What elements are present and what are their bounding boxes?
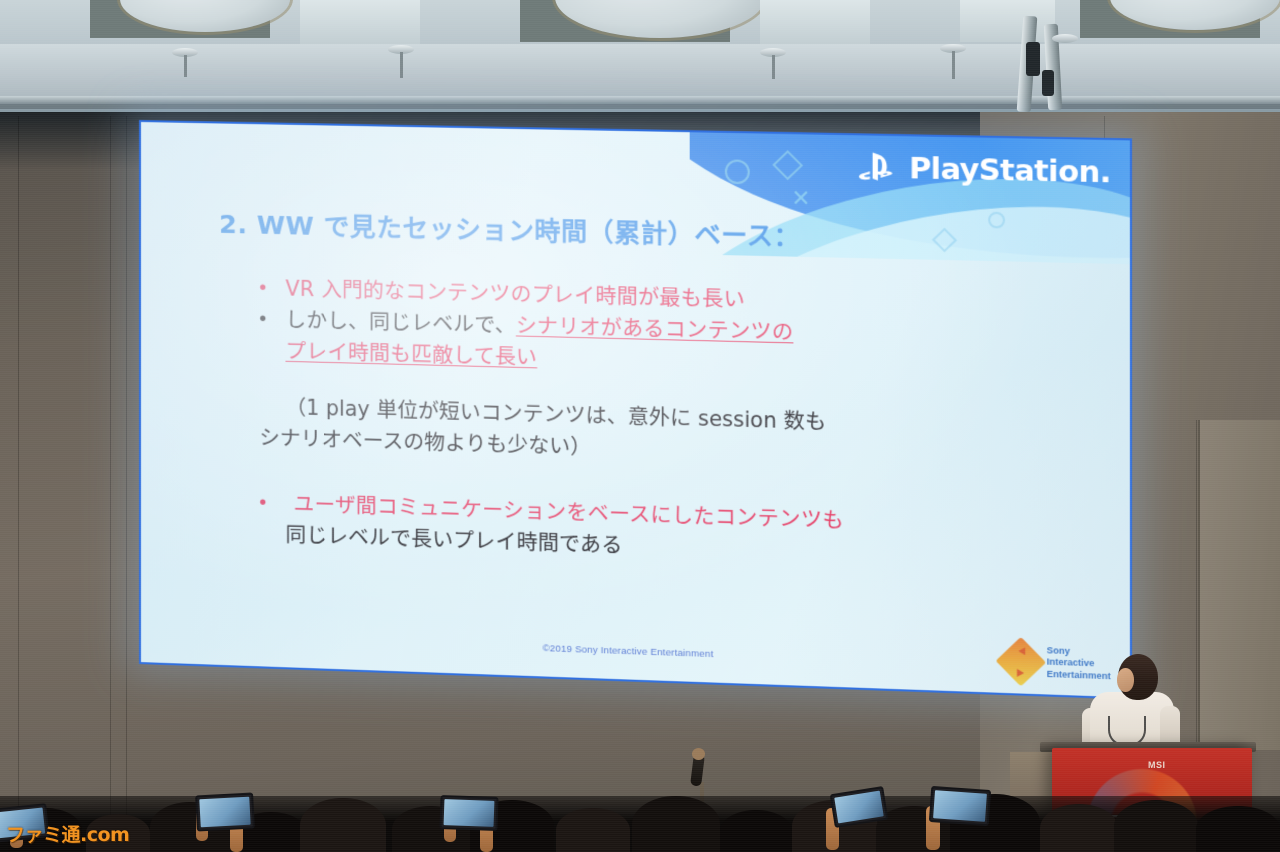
- bullet-spacer: [259, 519, 285, 520]
- audience-head: [632, 796, 720, 852]
- sie-logo: Sony Interactive Entertainment: [1003, 643, 1110, 682]
- bullet-marker: •: [259, 273, 285, 304]
- bullet-marker: •: [259, 304, 285, 335]
- audience-phone: [195, 793, 255, 832]
- famitsu-watermark: ファミ通.com: [6, 820, 129, 847]
- sie-diamond-icon: [996, 637, 1047, 686]
- audience-head: [720, 810, 792, 852]
- audience-head: [556, 808, 630, 852]
- sie-line: Entertainment: [1047, 668, 1111, 682]
- playstation-logo: PlayStation.: [856, 150, 1111, 190]
- phone-screen: [834, 791, 884, 824]
- slide: ✕ PlayStation. 2. WW で見たセッション時間（累計）ベース：: [139, 120, 1132, 700]
- bullet-line-emphasis: プレイ時間も匹敵して長い: [285, 336, 537, 373]
- audience-head: [1196, 806, 1280, 852]
- bullet-spacer: [259, 335, 285, 336]
- ps-cross-icon: ✕: [791, 187, 810, 210]
- copyright-notice: ©2019 Sony Interactive Entertainment: [141, 629, 1130, 675]
- phone-screen: [933, 790, 987, 822]
- ps-circle-icon: [725, 159, 750, 184]
- bullet-line-emphasis: シナリオがあるコンテンツの: [516, 313, 794, 344]
- ceiling-mount: [1052, 34, 1078, 43]
- ceiling-speaker-2: [1042, 70, 1054, 96]
- microphone-windscreen: [692, 748, 705, 760]
- audience-phone: [439, 795, 498, 831]
- playstation-mark-icon: [856, 150, 900, 186]
- audience-phone: [929, 786, 991, 826]
- bullet-marker: •: [259, 488, 285, 519]
- phone-screen: [444, 799, 495, 827]
- slide-body: • VR 入門的なコンテンツのプレイ時間が最も長い • しかし、同じレベルで、シ…: [259, 273, 1117, 578]
- conference-photo: ✕ PlayStation. 2. WW で見たセッション時間（累計）ベース：: [0, 0, 1280, 852]
- projection-screen: ✕ PlayStation. 2. WW で見たセッション時間（累計）ベース：: [139, 120, 1128, 695]
- ps-circle-icon-2: [988, 212, 1005, 229]
- ceiling: [0, 0, 1280, 118]
- speaker-face: [1117, 668, 1134, 692]
- ceiling-speaker: [1026, 42, 1040, 76]
- phone-screen: [199, 797, 250, 828]
- playstation-wordmark: PlayStation.: [909, 151, 1111, 190]
- bullet-line: しかし、同じレベルで、: [285, 308, 515, 338]
- sie-wordmark: Sony Interactive Entertainment: [1047, 645, 1111, 683]
- audience-head: [1114, 800, 1198, 852]
- side-door: [1198, 420, 1280, 750]
- audience-head: [300, 798, 386, 852]
- audience-head: [1040, 804, 1118, 852]
